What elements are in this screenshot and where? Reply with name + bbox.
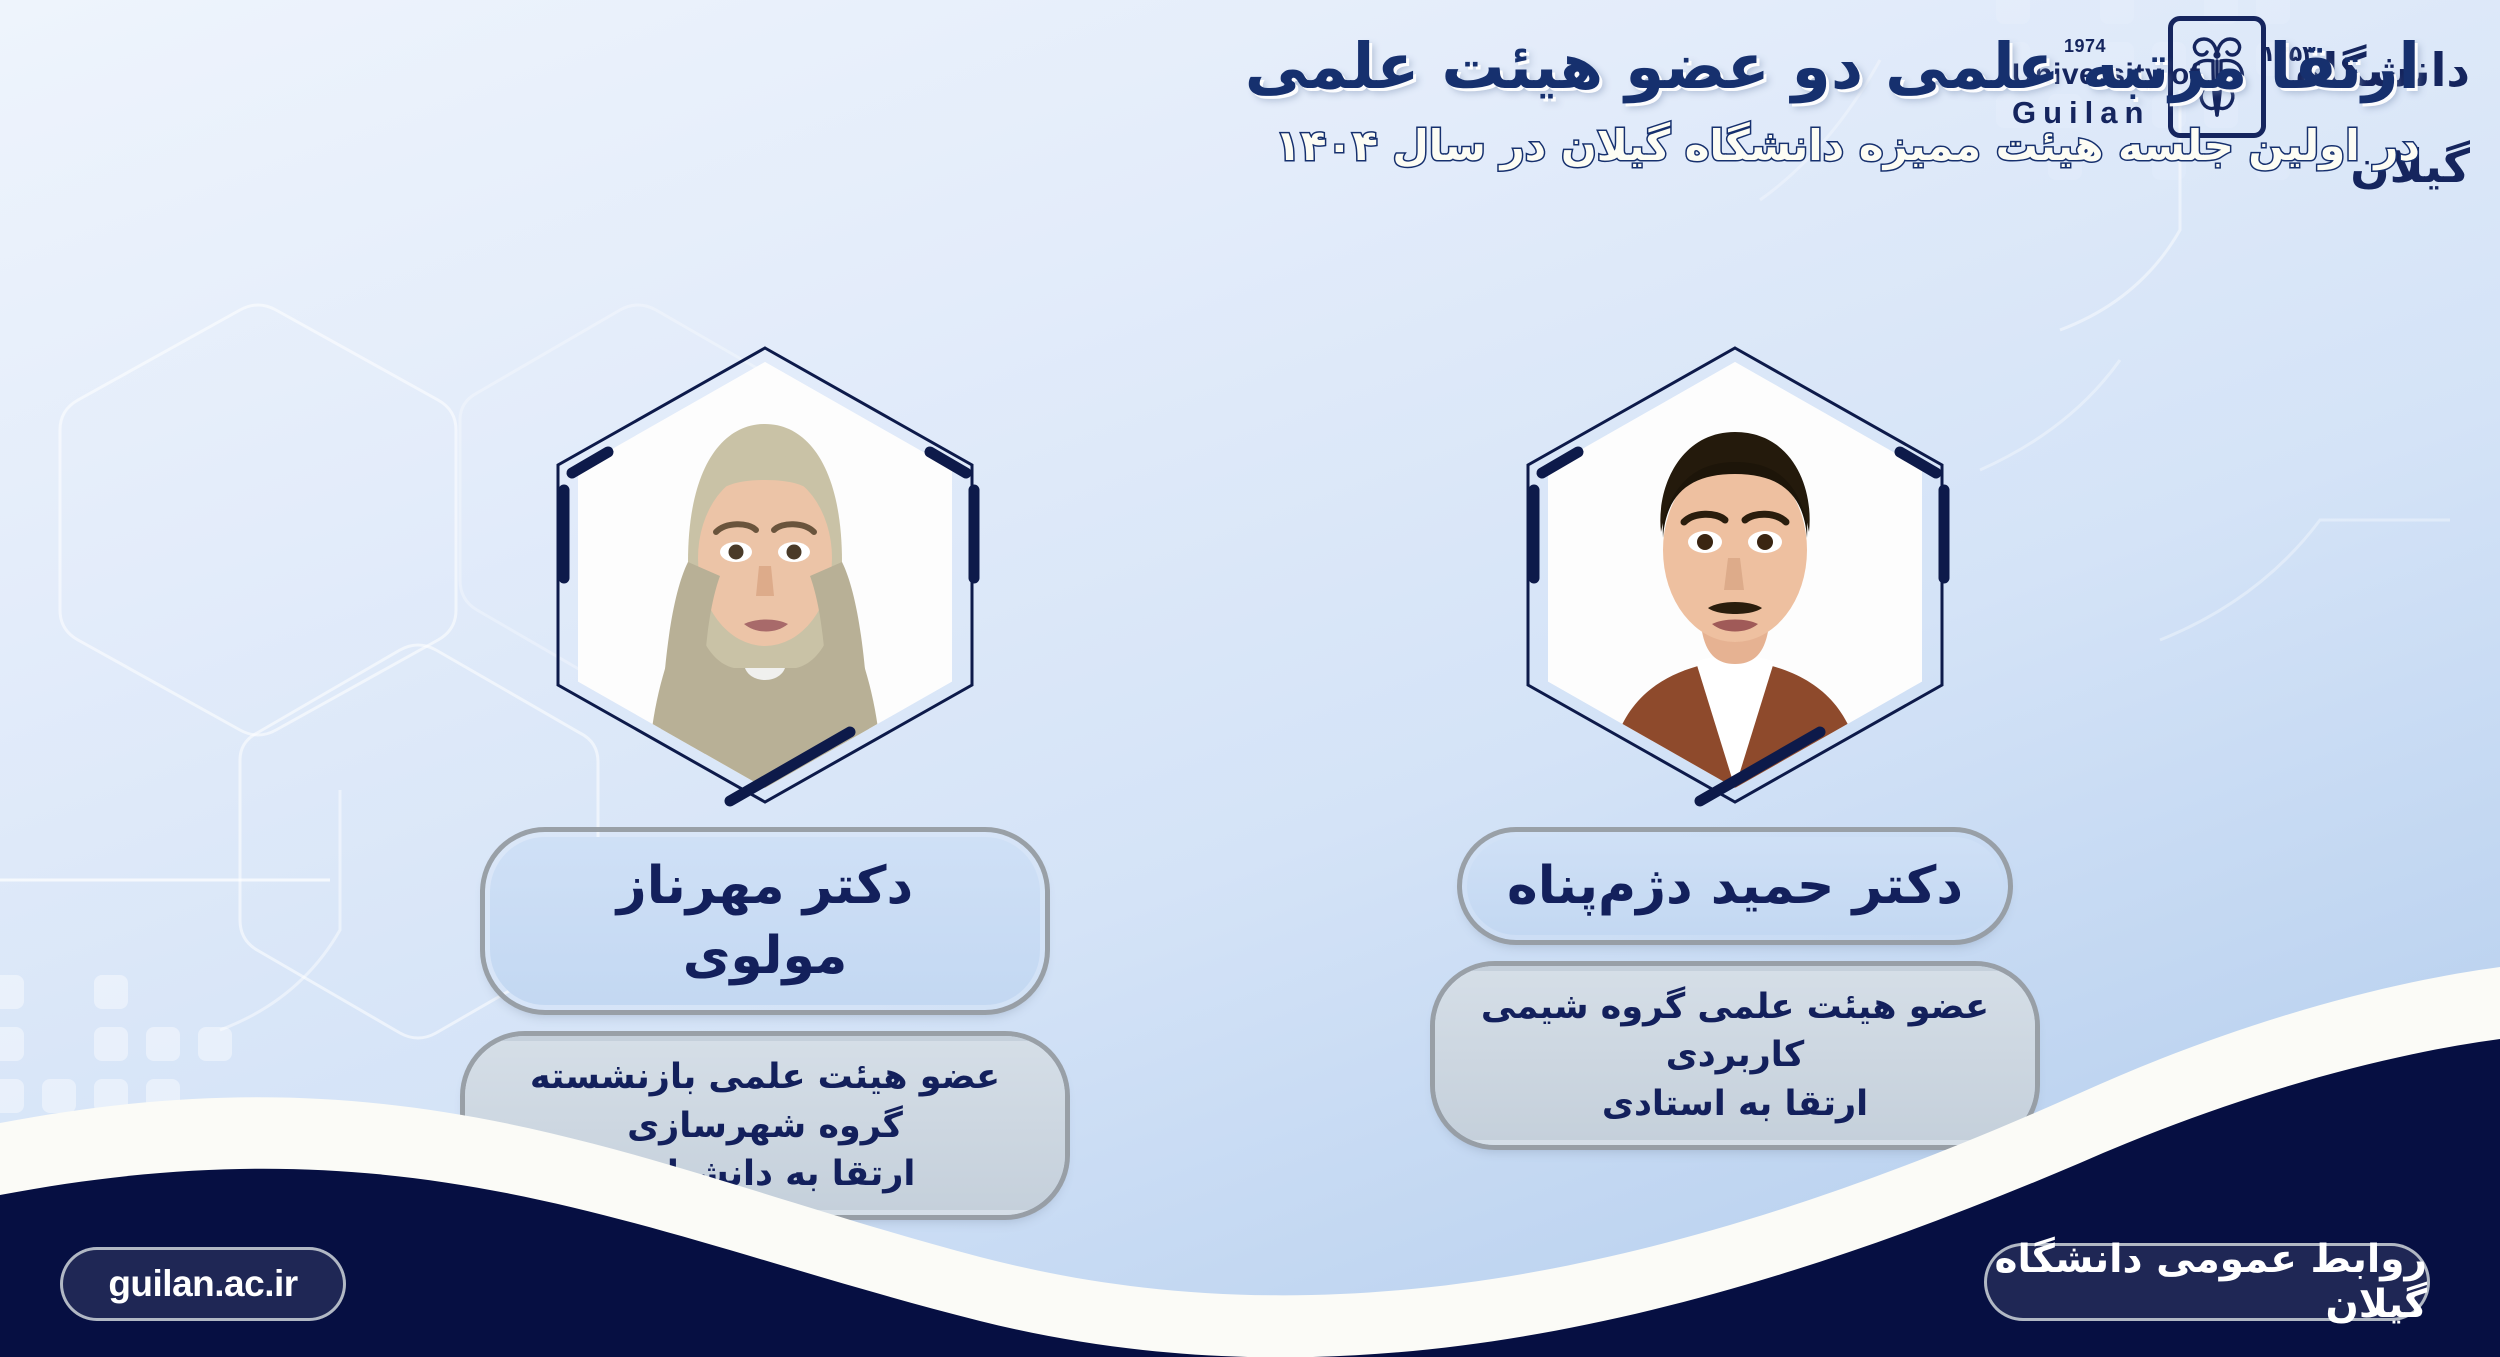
- hexagon-photo-frame: [1520, 340, 1950, 810]
- poster-canvas: 1974 University of Guilan ۱۳۵: [0, 0, 2500, 1357]
- website-label: guilan.ac.ir: [108, 1263, 297, 1305]
- person-card: دکتر مهرناز مولوی عضو هیئت علمی بازنشسته…: [465, 340, 1065, 1215]
- hexagon-photo-frame: [550, 340, 980, 810]
- hexagon-ring: [550, 340, 980, 810]
- website-pill[interactable]: guilan.ac.ir: [60, 1247, 346, 1321]
- person-role-line1: عضو هیئت علمی گروه شیمی کاربردی: [1481, 987, 1989, 1075]
- person-role-plate: عضو هیئت علمی بازنشسته گروه شهرسازی ارتق…: [465, 1036, 1065, 1215]
- person-card: دکتر حمید دژم‌پناه عضو هیئت علمی گروه شی…: [1435, 340, 2035, 1215]
- person-role-line1: عضو هیئت علمی بازنشسته گروه شهرسازی: [530, 1057, 1000, 1145]
- page-subtitle: در اولین جلسه هیئت ممیزه دانشگاه گیلان د…: [1000, 119, 2420, 174]
- person-name-plate: دکتر مهرناز مولوی: [485, 832, 1045, 1010]
- public-relations-pill[interactable]: روابط عمومی دانشگاه گیلان: [1984, 1243, 2430, 1321]
- person-role-plate: عضو هیئت علمی گروه شیمی کاربردی ارتقا به…: [1435, 966, 2035, 1145]
- person-name-plate: دکتر حمید دژم‌پناه: [1462, 832, 2008, 940]
- person-name: دکتر مهرناز مولوی: [617, 856, 913, 986]
- person-role-line2: ارتقا به دانشیاری: [504, 1150, 1026, 1198]
- people-row: دکتر حمید دژم‌پناه عضو هیئت علمی گروه شی…: [0, 340, 2500, 1215]
- public-relations-label: روابط عمومی دانشگاه گیلان: [1987, 1237, 2427, 1327]
- person-role-line2: ارتقا به استادی: [1474, 1080, 1996, 1128]
- hexagon-ring: [1520, 340, 1950, 810]
- person-name: دکتر حمید دژم‌پناه: [1507, 856, 1963, 916]
- title-block: ارتقا مرتبه علمی دو عضو هیئت علمی در اول…: [1000, 28, 2420, 173]
- page-title: ارتقا مرتبه علمی دو عضو هیئت علمی: [1000, 28, 2420, 107]
